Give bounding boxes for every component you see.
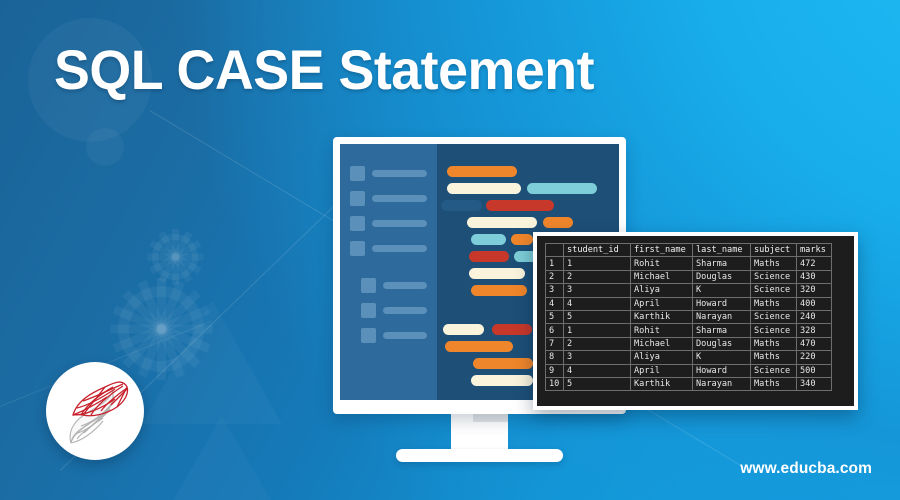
cell-last-name: Narayan [693, 377, 751, 390]
table-row[interactable]: 7 2 Michael Douglas Maths 470 [546, 337, 832, 350]
file-icon [350, 216, 365, 231]
cell-student-id: 2 [564, 270, 631, 283]
code-line [437, 200, 619, 211]
sql-server-logo-icon [57, 371, 133, 451]
cell-student-id: 3 [564, 284, 631, 297]
cell-student-id: 5 [564, 310, 631, 323]
cell-subject: Maths [751, 257, 797, 270]
cell-student-id: 1 [564, 257, 631, 270]
decorative-circle-small [86, 128, 124, 166]
cell-first-name: Karthik [631, 377, 693, 390]
cell-student-id: 2 [564, 337, 631, 350]
cell-last-name: Douglas [693, 270, 751, 283]
cell-marks: 500 [797, 364, 832, 377]
cell-rownum: 8 [546, 351, 564, 364]
cell-last-name: K [693, 351, 751, 364]
sidebar-item-label [383, 307, 427, 314]
cell-subject: Maths [751, 351, 797, 364]
page-title: SQL CASE Statement [54, 42, 594, 98]
sidebar-item-label [372, 220, 427, 227]
column-header-first-name: first_name [631, 244, 693, 257]
sidebar-item[interactable] [350, 166, 427, 181]
column-header-marks: marks [797, 244, 832, 257]
cell-subject: Science [751, 284, 797, 297]
column-header-subject: subject [751, 244, 797, 257]
cell-rownum: 2 [546, 270, 564, 283]
editor-sidebar [340, 144, 437, 400]
cell-subject: Maths [751, 337, 797, 350]
cell-last-name: Douglas [693, 337, 751, 350]
cell-rownum: 10 [546, 377, 564, 390]
result-table-body: 1 1 Rohit Sharma Maths 472 2 2 Michael D… [546, 257, 832, 391]
cell-last-name: K [693, 284, 751, 297]
sidebar-item[interactable] [350, 241, 427, 256]
cell-first-name: Aliya [631, 284, 693, 297]
table-row[interactable]: 1 1 Rohit Sharma Maths 472 [546, 257, 832, 270]
cell-marks: 472 [797, 257, 832, 270]
cell-last-name: Howard [693, 364, 751, 377]
monitor-stand-shadow [473, 414, 508, 422]
cell-subject: Science [751, 364, 797, 377]
table-row[interactable]: 5 5 Karthik Narayan Science 240 [546, 310, 832, 323]
sql-server-logo-badge [46, 362, 144, 460]
table-row[interactable]: 9 4 April Howard Science 500 [546, 364, 832, 377]
sidebar-divider [350, 266, 427, 278]
cell-first-name: Aliya [631, 351, 693, 364]
column-header-last-name: last_name [693, 244, 751, 257]
cell-rownum: 1 [546, 257, 564, 270]
folder-icon [361, 328, 376, 343]
cell-first-name: Michael [631, 337, 693, 350]
cell-rownum: 6 [546, 324, 564, 337]
cell-student-id: 3 [564, 351, 631, 364]
folder-icon [361, 303, 376, 318]
cell-last-name: Narayan [693, 310, 751, 323]
code-line [437, 217, 619, 228]
table-header-row: student_id first_name last_name subject … [546, 244, 832, 257]
cell-student-id: 5 [564, 377, 631, 390]
table-row[interactable]: 3 3 Aliya K Science 320 [546, 284, 832, 297]
gear-icon-small [152, 234, 198, 280]
cell-subject: Science [751, 324, 797, 337]
monitor-stand-base [396, 449, 563, 462]
result-table[interactable]: student_id first_name last_name subject … [545, 243, 832, 391]
table-row[interactable]: 8 3 Aliya K Maths 220 [546, 351, 832, 364]
sidebar-item[interactable] [350, 303, 427, 318]
sidebar-item[interactable] [350, 328, 427, 343]
cell-last-name: Howard [693, 297, 751, 310]
cell-marks: 340 [797, 377, 832, 390]
cell-first-name: April [631, 297, 693, 310]
cell-marks: 320 [797, 284, 832, 297]
table-row[interactable]: 10 5 Karthik Narayan Maths 340 [546, 377, 832, 390]
cell-student-id: 4 [564, 364, 631, 377]
cell-student-id: 4 [564, 297, 631, 310]
decorative-triangle-bottom [166, 416, 278, 500]
sidebar-item-label [383, 332, 427, 339]
folder-icon [361, 278, 376, 293]
cell-rownum: 5 [546, 310, 564, 323]
cell-student-id: 1 [564, 324, 631, 337]
cell-first-name: April [631, 364, 693, 377]
query-result-panel: student_id first_name last_name subject … [533, 232, 858, 410]
cell-marks: 328 [797, 324, 832, 337]
sidebar-item-label [372, 170, 427, 177]
footer-url[interactable]: www.educba.com [740, 460, 872, 478]
file-icon [350, 166, 365, 181]
cell-marks: 220 [797, 351, 832, 364]
sidebar-item[interactable] [350, 216, 427, 231]
cell-first-name: Rohit [631, 257, 693, 270]
cell-last-name: Sharma [693, 257, 751, 270]
column-header-student-id: student_id [564, 244, 631, 257]
cell-subject: Maths [751, 377, 797, 390]
sidebar-item[interactable] [350, 278, 427, 293]
sidebar-item-label [372, 195, 427, 202]
cell-marks: 470 [797, 337, 832, 350]
code-line [437, 183, 619, 194]
cell-marks: 400 [797, 297, 832, 310]
cell-marks: 430 [797, 270, 832, 283]
sidebar-item-label [383, 282, 427, 289]
table-row[interactable]: 2 2 Michael Douglas Science 430 [546, 270, 832, 283]
table-row[interactable]: 4 4 April Howard Maths 400 [546, 297, 832, 310]
cell-first-name: Rohit [631, 324, 693, 337]
code-line [437, 166, 619, 177]
column-header-rownum [546, 244, 564, 257]
cell-subject: Maths [751, 297, 797, 310]
cell-subject: Science [751, 270, 797, 283]
query-result-inner: student_id first_name last_name subject … [537, 236, 854, 406]
cell-first-name: Karthik [631, 310, 693, 323]
cell-rownum: 9 [546, 364, 564, 377]
file-icon [350, 191, 365, 206]
sidebar-item[interactable] [350, 191, 427, 206]
cell-rownum: 3 [546, 284, 564, 297]
cell-first-name: Michael [631, 270, 693, 283]
file-icon [350, 241, 365, 256]
cell-rownum: 7 [546, 337, 564, 350]
cell-subject: Science [751, 310, 797, 323]
cell-rownum: 4 [546, 297, 564, 310]
gear-icon-large [118, 286, 204, 372]
cell-marks: 240 [797, 310, 832, 323]
sidebar-item-label [372, 245, 427, 252]
banner-canvas: SQL CASE Statement [0, 0, 900, 500]
cell-last-name: Sharma [693, 324, 751, 337]
table-row[interactable]: 6 1 Rohit Sharma Science 328 [546, 324, 832, 337]
